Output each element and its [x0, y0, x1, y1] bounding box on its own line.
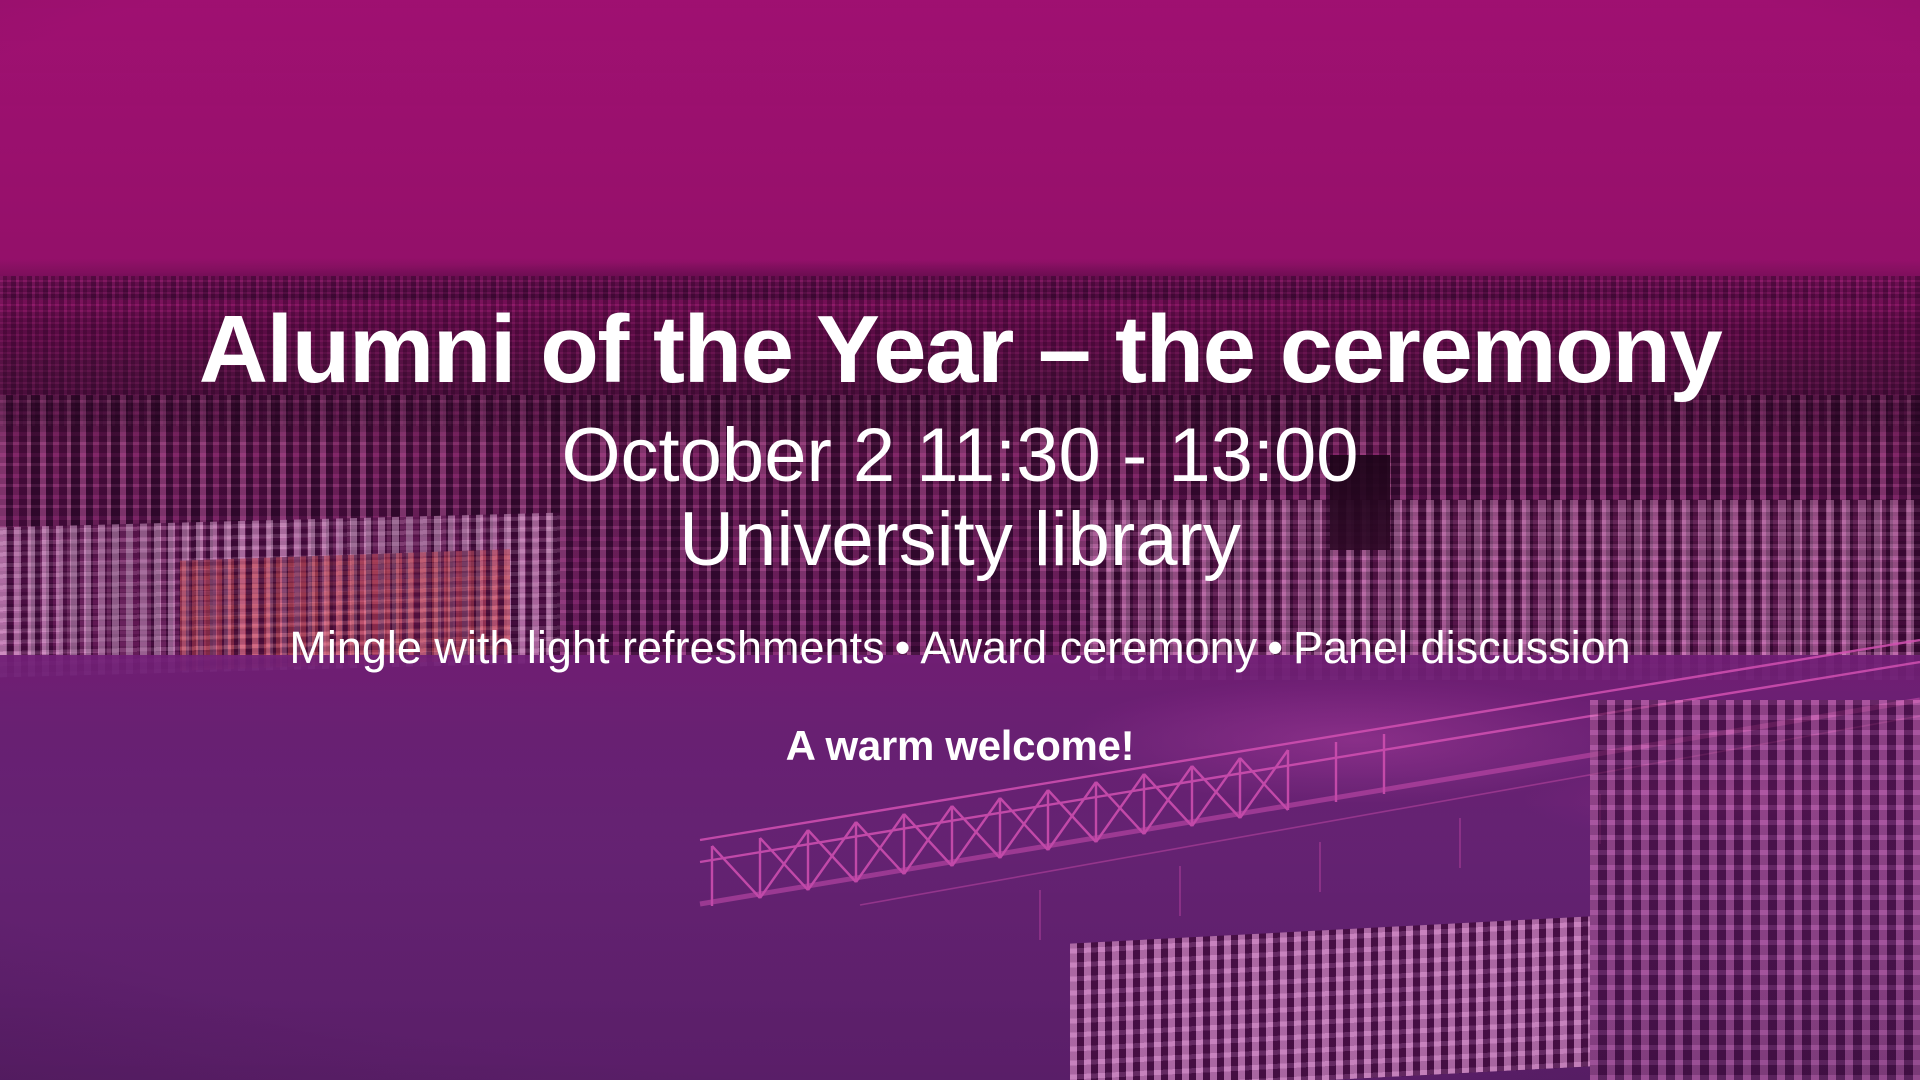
event-venue: University library	[679, 499, 1241, 581]
event-title: Alumni of the Year – the ceremony	[199, 300, 1722, 401]
program-item-award: Award ceremony	[920, 622, 1257, 673]
program-item-mingle: Mingle with light refreshments	[289, 622, 884, 673]
program-separator-2: •	[1257, 622, 1293, 673]
event-datetime: October 2 11:30 - 13:00	[561, 415, 1358, 497]
banner-content: Alumni of the Year – the ceremony Octobe…	[0, 0, 1920, 1080]
closing-message: A warm welcome!	[786, 722, 1135, 770]
event-program: Mingle with light refreshments•Award cer…	[289, 623, 1630, 673]
event-banner: Alumni of the Year – the ceremony Octobe…	[0, 0, 1920, 1080]
program-separator-1: •	[885, 622, 921, 673]
program-item-panel: Panel discussion	[1293, 622, 1631, 673]
